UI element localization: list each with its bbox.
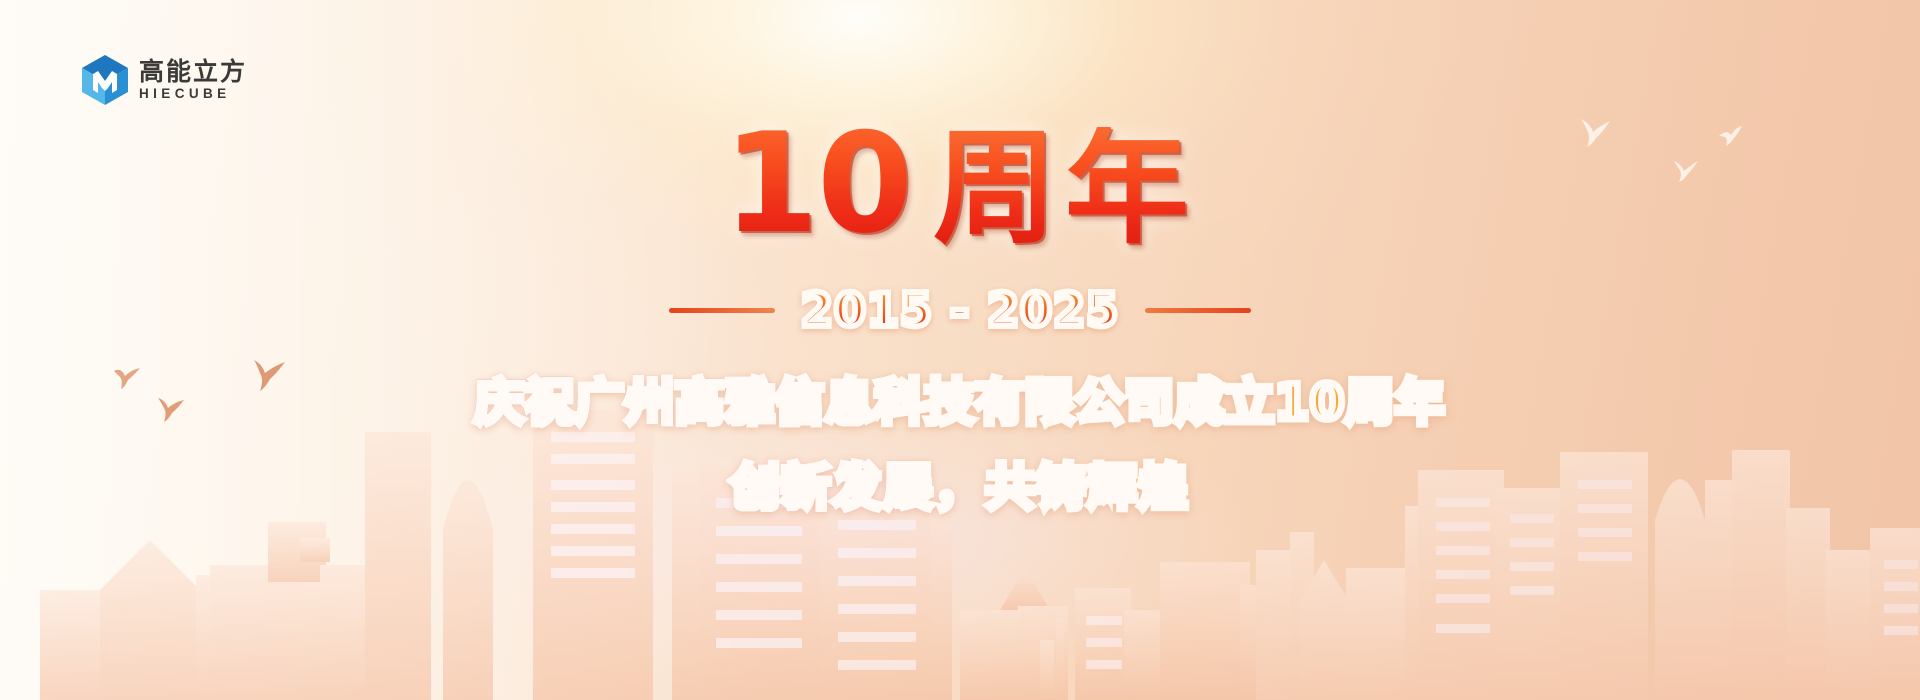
- bird-right-2: [1672, 157, 1700, 183]
- bird-left-2: [155, 395, 187, 423]
- logo-wordmark: 高能立方 HIECUBE: [139, 59, 247, 101]
- logo-chinese-name: 高能立方: [139, 59, 247, 85]
- year-range-text: 2015 - 2025: [801, 283, 1119, 337]
- anniversary-number: 10: [723, 115, 911, 253]
- bird-right-3: [1718, 126, 1744, 148]
- year-rule-right: [1145, 308, 1251, 313]
- brand-logo[interactable]: 高能立方 HIECUBE: [82, 55, 247, 105]
- bird-right-1: [1578, 116, 1612, 148]
- bird-left-1: [112, 365, 142, 391]
- hiecube-hex-m-logo-icon: [82, 55, 128, 105]
- bird-left-3: [250, 358, 288, 392]
- city-skyline-silhouette: [0, 410, 1920, 700]
- anniversary-suffix: 周年: [933, 127, 1197, 251]
- year-rule-left: [669, 308, 775, 313]
- logo-english-name: HIECUBE: [139, 87, 247, 101]
- year-range-row: 2015 - 2025: [669, 283, 1251, 337]
- anniversary-banner: 高能立方 HIECUBE 10 周年 2015 - 2025 庆祝广州高雅信息科…: [0, 0, 1920, 700]
- anniversary-headline: 10 周年: [723, 115, 1197, 253]
